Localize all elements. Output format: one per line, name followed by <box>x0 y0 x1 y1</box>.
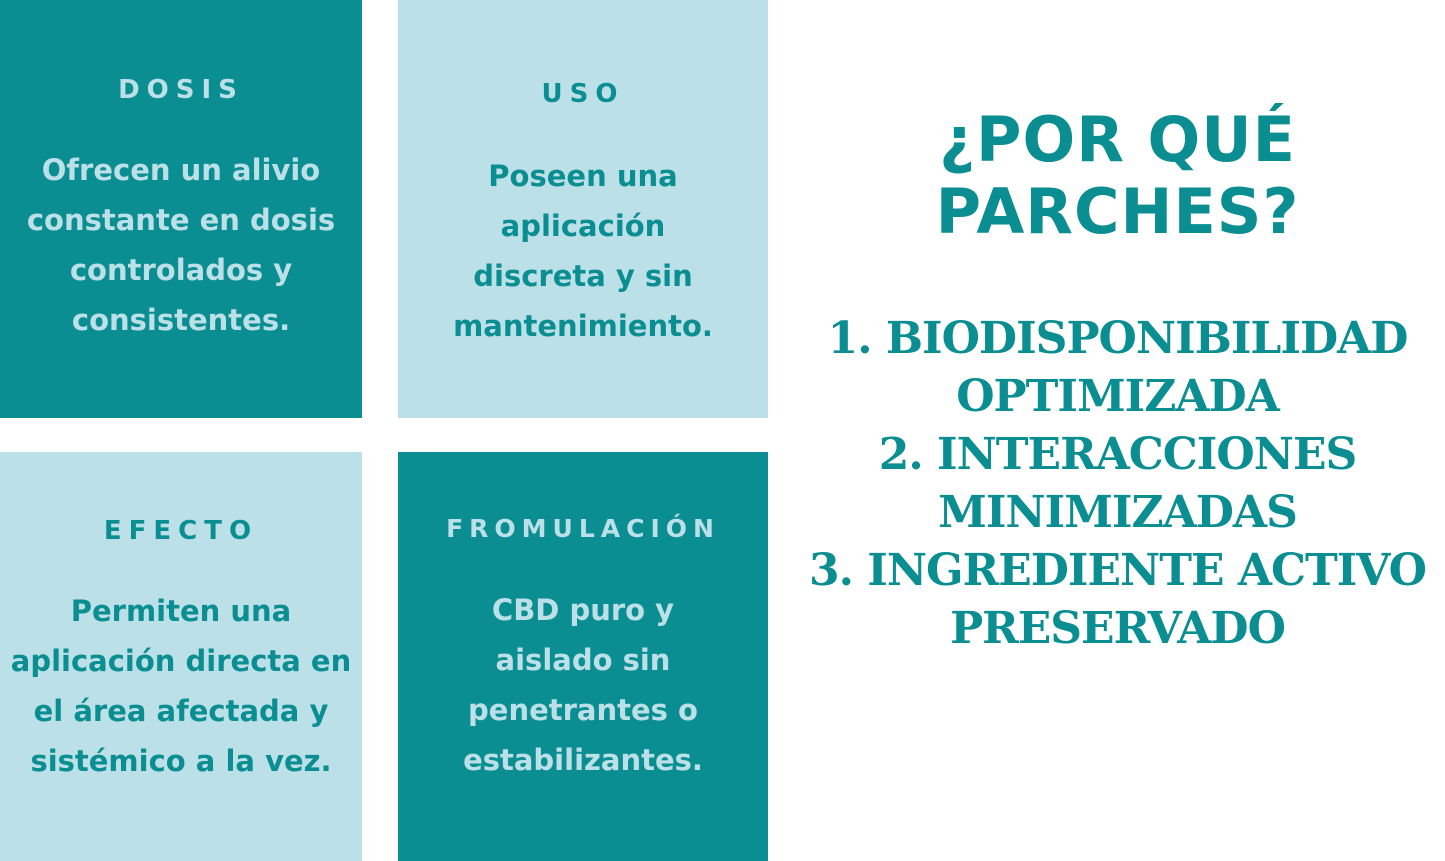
page-title: ¿POR QUÉ PARCHES? <box>790 104 1445 248</box>
panel-formulacion-body: CBD puro y aislado sin penetrantes o est… <box>433 585 733 785</box>
panel-efecto: EFECTO Permiten una aplicación directa e… <box>0 452 362 861</box>
panel-efecto-label: EFECTO <box>104 517 258 546</box>
panel-dosis-label: DOSIS <box>118 76 244 105</box>
panel-efecto-body: Permiten una aplicación directa en el ár… <box>10 586 352 786</box>
panel-uso: USO Poseen una aplicación discreta y sin… <box>398 0 768 418</box>
panel-formulacion-label: FROMULACIÓN <box>446 515 720 543</box>
benefit-list-item-1: 1. BIODISPONIBILIDAD OPTIMIZADA <box>790 310 1445 426</box>
page-title-line-1: ¿POR QUÉ <box>939 103 1296 176</box>
panel-uso-body: Poseen una aplicación discreta y sin man… <box>449 151 717 351</box>
right-column: ¿POR QUÉ PARCHES? 1. BIODISPONIBILIDAD O… <box>790 0 1445 861</box>
infographic-canvas: DOSIS Ofrecen un alivio constante en dos… <box>0 0 1445 861</box>
panel-uso-label: USO <box>542 80 625 109</box>
benefit-list: 1. BIODISPONIBILIDAD OPTIMIZADA 2. INTER… <box>790 310 1445 658</box>
panel-dosis: DOSIS Ofrecen un alivio constante en dos… <box>0 0 362 418</box>
page-title-line-2: PARCHES? <box>936 175 1300 248</box>
panel-formulacion: FROMULACIÓN CBD puro y aislado sin penet… <box>398 452 768 861</box>
benefit-list-item-2: 2. INTERACCIONES MINIMIZADAS <box>790 426 1445 542</box>
benefit-list-item-3: 3. INGREDIENTE ACTIVO PRESERVADO <box>790 542 1445 658</box>
panel-dosis-body: Ofrecen un alivio constante en dosis con… <box>11 145 351 345</box>
